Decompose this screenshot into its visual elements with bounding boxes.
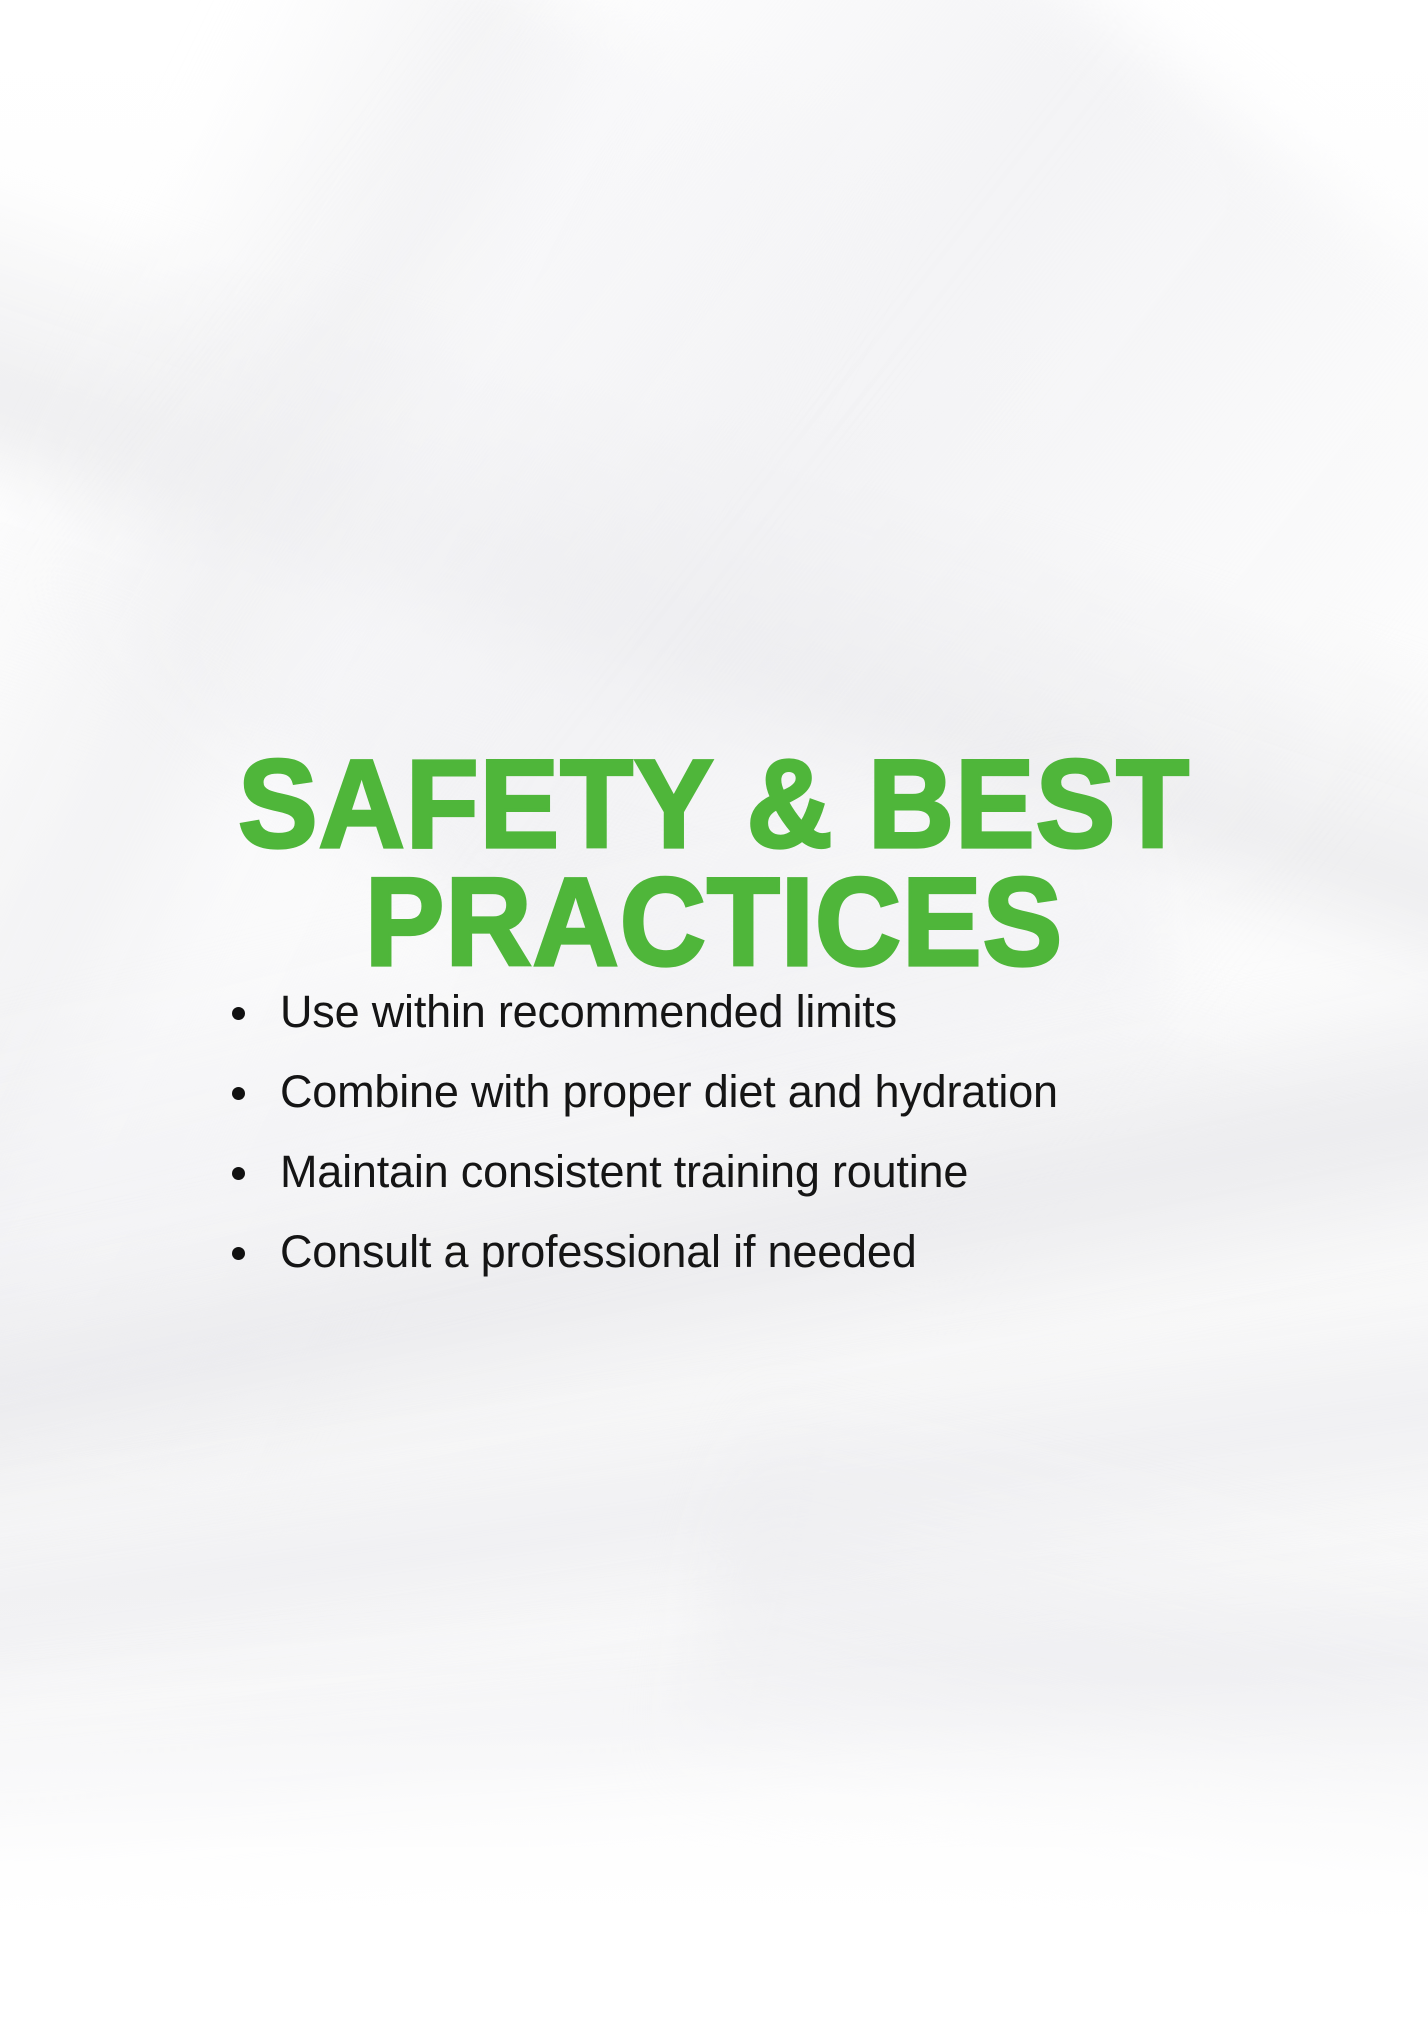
bullet-dot-icon (232, 1007, 245, 1020)
page-title: SAFETY & BEST PRACTICES (32, 746, 1396, 982)
slide-content: SAFETY & BEST PRACTICES Use within recom… (0, 0, 1428, 2018)
list-item-label: Combine with proper diet and hydration (280, 1066, 1058, 1117)
list-item-label: Maintain consistent training routine (280, 1146, 968, 1197)
bullet-list: Use within recommended limits Combine wi… (228, 978, 1278, 1298)
bullet-dot-icon (232, 1247, 245, 1260)
list-item-label: Consult a professional if needed (280, 1226, 917, 1277)
bullet-dot-icon (232, 1087, 245, 1100)
bullet-dot-icon (232, 1167, 245, 1180)
list-item: Use within recommended limits (228, 978, 1278, 1046)
slide-canvas: SAFETY & BEST PRACTICES Use within recom… (0, 0, 1428, 2018)
list-item-label: Use within recommended limits (280, 986, 897, 1037)
list-item: Maintain consistent training routine (228, 1138, 1278, 1206)
list-item: Combine with proper diet and hydration (228, 1058, 1278, 1126)
list-item: Consult a professional if needed (228, 1218, 1278, 1286)
